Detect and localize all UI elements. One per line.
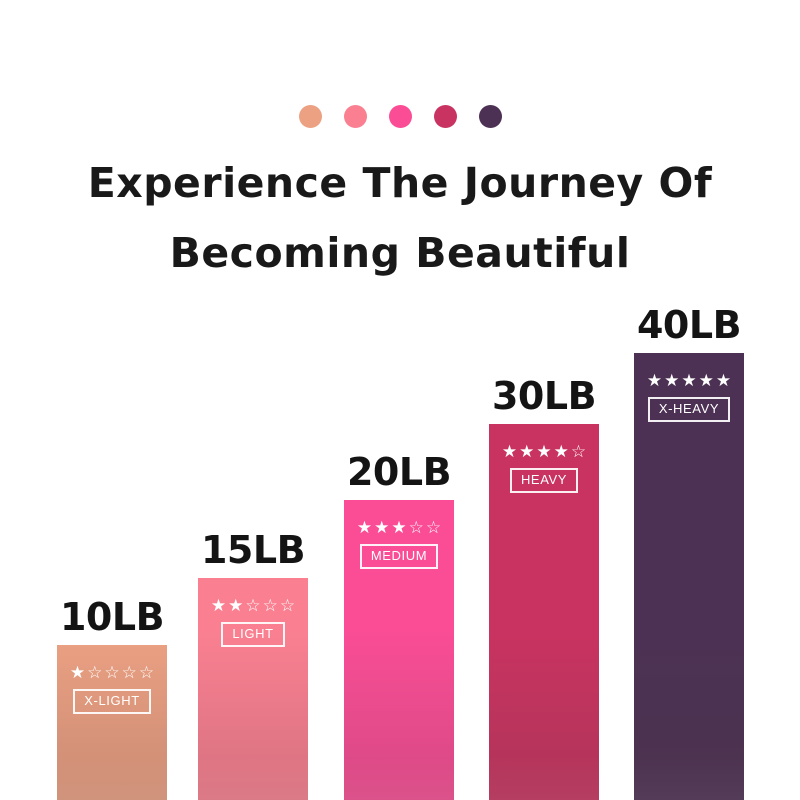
- bar-bottom-shading: [198, 630, 308, 800]
- bar-30lb[interactable]: ★★★★☆HEAVY: [489, 424, 599, 800]
- star-empty-icon: ☆: [263, 598, 278, 615]
- star-empty-icon: ☆: [571, 444, 586, 461]
- star-empty-icon: ☆: [122, 665, 137, 682]
- star-filled-icon: ★: [536, 444, 551, 461]
- star-filled-icon: ★: [699, 373, 714, 390]
- star-filled-icon: ★: [647, 373, 662, 390]
- star-filled-icon: ★: [228, 598, 243, 615]
- resistance-band-bar-chart: 10LB★☆☆☆☆X-LIGHT15LB★★☆☆☆LIGHT20LB★★★☆☆M…: [0, 0, 800, 800]
- star-rating: ★★★★☆: [502, 444, 586, 461]
- level-badge: LIGHT: [221, 622, 284, 647]
- star-empty-icon: ☆: [426, 520, 441, 537]
- bar-10lb[interactable]: ★☆☆☆☆X-LIGHT: [57, 645, 167, 800]
- bar-badge-block: ★★☆☆☆LIGHT: [198, 598, 308, 647]
- star-rating: ★★★★★: [647, 373, 731, 390]
- star-rating: ★★★☆☆: [357, 520, 441, 537]
- bar-weight-label: 15LB: [182, 528, 324, 572]
- star-filled-icon: ★: [681, 373, 696, 390]
- star-filled-icon: ★: [211, 598, 226, 615]
- bar-group-20lb: 20LB★★★☆☆MEDIUM: [344, 444, 454, 800]
- bar-weight-label: 10LB: [41, 595, 183, 639]
- bar-bottom-shading: [489, 630, 599, 800]
- star-filled-icon: ★: [374, 520, 389, 537]
- level-badge: HEAVY: [510, 468, 578, 493]
- star-empty-icon: ☆: [409, 520, 424, 537]
- bar-badge-block: ★★★☆☆MEDIUM: [344, 520, 454, 569]
- poster-canvas: Experience The Journey Of Becoming Beaut…: [0, 0, 800, 800]
- star-filled-icon: ★: [664, 373, 679, 390]
- star-filled-icon: ★: [70, 665, 85, 682]
- star-filled-icon: ★: [519, 444, 534, 461]
- bar-weight-label: 40LB: [618, 303, 760, 347]
- star-filled-icon: ★: [391, 520, 406, 537]
- star-filled-icon: ★: [716, 373, 731, 390]
- bar-weight-label: 30LB: [473, 374, 615, 418]
- bar-badge-block: ★☆☆☆☆X-LIGHT: [57, 665, 167, 714]
- bar-20lb[interactable]: ★★★☆☆MEDIUM: [344, 500, 454, 800]
- level-badge: X-LIGHT: [73, 689, 150, 714]
- star-filled-icon: ★: [554, 444, 569, 461]
- star-rating: ★☆☆☆☆: [70, 665, 154, 682]
- bar-group-40lb: 40LB★★★★★X-HEAVY: [634, 297, 744, 800]
- star-empty-icon: ☆: [245, 598, 260, 615]
- bar-bottom-shading: [344, 630, 454, 800]
- bar-badge-block: ★★★★☆HEAVY: [489, 444, 599, 493]
- bar-15lb[interactable]: ★★☆☆☆LIGHT: [198, 578, 308, 800]
- bar-bottom-shading: [634, 630, 744, 800]
- star-rating: ★★☆☆☆: [211, 598, 295, 615]
- level-badge: MEDIUM: [360, 544, 438, 569]
- bar-group-15lb: 15LB★★☆☆☆LIGHT: [198, 522, 308, 800]
- bar-weight-label: 20LB: [328, 450, 470, 494]
- level-badge: X-HEAVY: [648, 397, 730, 422]
- bar-40lb[interactable]: ★★★★★X-HEAVY: [634, 353, 744, 800]
- bar-group-10lb: 10LB★☆☆☆☆X-LIGHT: [57, 589, 167, 800]
- bar-badge-block: ★★★★★X-HEAVY: [634, 373, 744, 422]
- star-empty-icon: ☆: [87, 665, 102, 682]
- star-empty-icon: ☆: [139, 665, 154, 682]
- star-empty-icon: ☆: [104, 665, 119, 682]
- bar-group-30lb: 30LB★★★★☆HEAVY: [489, 368, 599, 800]
- star-empty-icon: ☆: [280, 598, 295, 615]
- star-filled-icon: ★: [502, 444, 517, 461]
- star-filled-icon: ★: [357, 520, 372, 537]
